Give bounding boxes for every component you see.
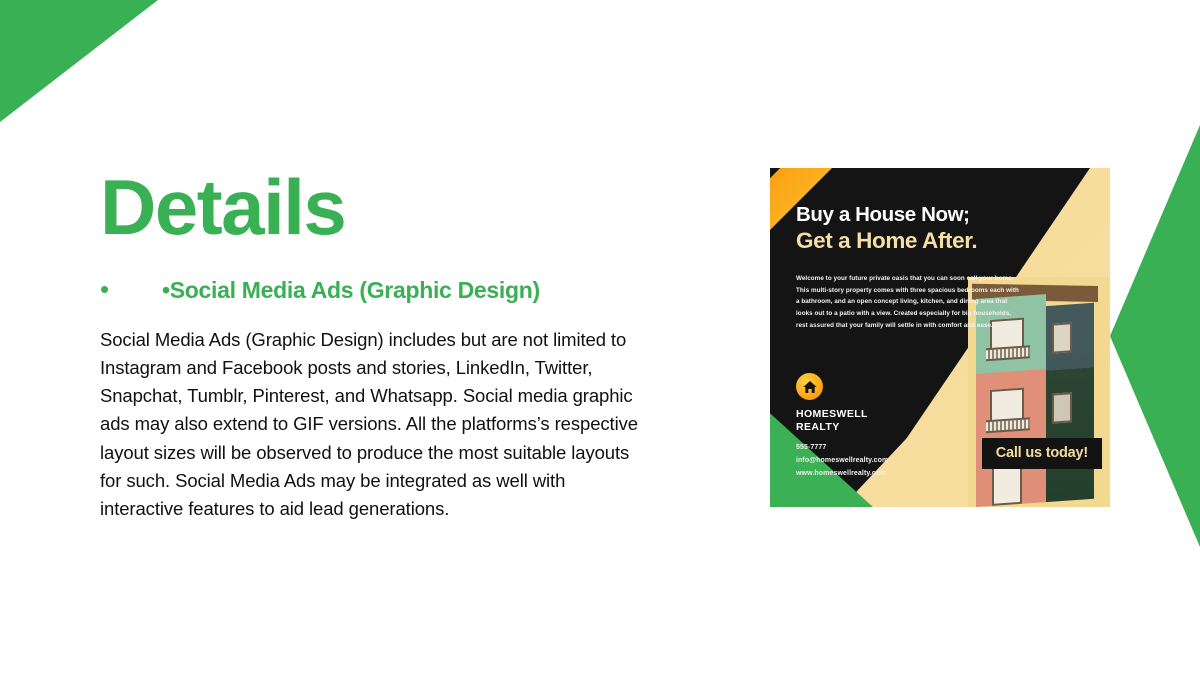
ad-body-copy: Welcome to your future private oasis tha…	[796, 273, 1024, 331]
decor-triangle-top-left	[0, 0, 158, 122]
ad-preview-card[interactable]: Buy a House Now; Get a Home After. Welco…	[770, 168, 1110, 507]
brand-name: HOMESWELL REALTY	[796, 408, 868, 435]
brand-line-2: REALTY	[796, 421, 868, 434]
contact-block: 555-7777 info@homeswellrealty.com www.ho…	[796, 442, 888, 481]
bullet-row: • •Social Media Ads (Graphic Design)	[100, 276, 660, 304]
ad-headline-line-2: Get a Home After.	[796, 227, 977, 254]
bullet-dot-icon: •	[100, 276, 162, 302]
contact-website: www.homeswellrealty.com	[796, 468, 888, 481]
decor-arrow-right	[1110, 125, 1200, 547]
bullet-heading: •Social Media Ads (Graphic Design)	[162, 277, 540, 304]
building-window	[1052, 392, 1072, 423]
body-paragraph: Social Media Ads (Graphic Design) includ…	[100, 326, 640, 523]
slide: Details • •Social Media Ads (Graphic Des…	[0, 0, 1200, 675]
ad-headline-line-1: Buy a House Now;	[796, 202, 977, 227]
ad-headline: Buy a House Now; Get a Home After.	[796, 202, 977, 254]
contact-email: info@homeswellrealty.com	[796, 455, 888, 468]
call-to-action-button[interactable]: Call us today!	[982, 438, 1102, 469]
contact-phone: 555-7777	[796, 442, 888, 455]
page-title: Details	[100, 170, 660, 244]
building-window	[1052, 322, 1072, 353]
homeswell-logo	[796, 373, 823, 400]
house-icon	[802, 379, 818, 395]
text-column: Details • •Social Media Ads (Graphic Des…	[100, 170, 660, 523]
building-window	[992, 464, 1022, 506]
brand-line-1: HOMESWELL	[796, 408, 868, 421]
